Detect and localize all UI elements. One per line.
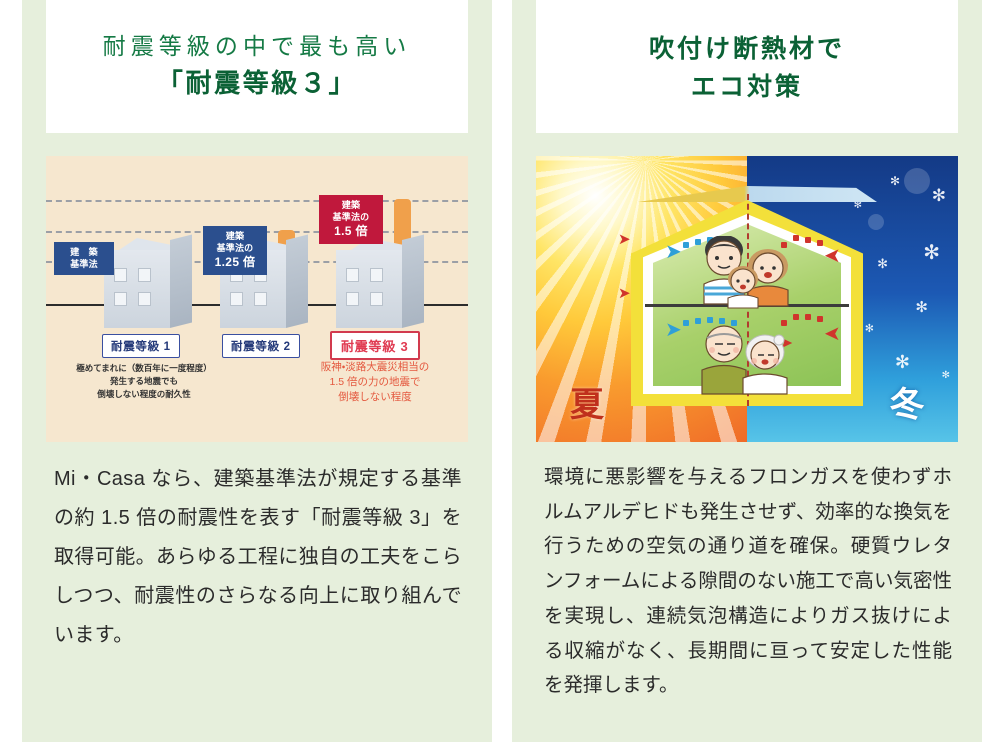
building-side [170, 235, 192, 328]
bokeh-circle [868, 214, 884, 230]
insulation-body-text: 環境に悪影響を与えるフロンガスを使わずホルムアルデヒドも発生させず、効率的な換気… [544, 460, 952, 703]
grade-badge-3: 耐震等級 3 [330, 331, 420, 360]
grade-1-description: 極めてまれに（数百年に一度程度） 発生する地震でも 倒壊しない程度の耐久性 [54, 362, 234, 400]
warm-airflow-dots [767, 314, 827, 320]
seismic-heading-main: 「耐震等級３」 [157, 66, 357, 101]
snowflake-icon: ✻ [923, 240, 940, 265]
panel-seismic: 耐震等級の中で最も高い 「耐震等級３」 [22, 0, 492, 742]
snowflake-icon: ✻ [895, 352, 910, 373]
bokeh-circle [904, 168, 930, 194]
grade-badge-1: 耐震等級 1 [102, 334, 180, 358]
insulation-heading-card: 吹付け断熱材で エコ対策 [536, 0, 958, 133]
house-cutaway: ➤ ➤ [631, 186, 863, 408]
season-label-winter: 冬 [890, 377, 924, 426]
warm-airflow-dots [767, 236, 827, 242]
grandmother-figure [739, 332, 791, 401]
seismic-heading-sub: 耐震等級の中で最も高い [103, 31, 412, 62]
snowflake-icon: ✻ [877, 256, 888, 272]
flag-standard-law: 建 築 基準法 [54, 242, 114, 275]
panel-insulation: 吹付け断熱材で エコ対策 ✻ ✻ ✻ ✻ ✻ ✻ ✻ ✻ ✻ [512, 0, 982, 742]
seismic-body-text: Mi・Casa なら、建築基準法が規定する基準の約 1.5 倍の耐震性を表す「耐… [54, 460, 462, 655]
building-grade-3 [336, 238, 424, 328]
flag-1-25x: 建築 基準法の 1.25 倍 [203, 226, 267, 275]
building-side [402, 235, 424, 328]
insulation-figure: ✻ ✻ ✻ ✻ ✻ ✻ ✻ ✻ ✻ [536, 156, 958, 442]
page-root: 耐震等級の中で最も高い 「耐震等級３」 [0, 0, 1000, 750]
seismic-figure: 建 築 基準法 耐震等級 1 極めてまれに（数百年に一度程度） 発生する地震でも… [46, 156, 468, 442]
snowflake-icon: ✻ [865, 322, 874, 335]
flag-1-5x: 建築 基準法の 1.5 倍 [319, 195, 383, 244]
blocked-heat-arrow-icon: ➤ [618, 230, 631, 248]
summer-winter-illustration: ✻ ✻ ✻ ✻ ✻ ✻ ✻ ✻ ✻ [536, 156, 958, 442]
warm-airflow-arrow-icon: ➤ [824, 324, 841, 344]
seismic-chart: 建 築 基準法 耐震等級 1 極めてまれに（数百年に一度程度） 発生する地震でも… [46, 156, 468, 442]
cool-airflow-arrow-icon: ➤ [665, 242, 682, 262]
building-front [336, 250, 402, 328]
cool-airflow-arrow-icon: ➤ [665, 320, 682, 340]
grade-3-description: 阪神・淡路大震災相当の 1.5 倍の力の地震で 倒壊しない程度 [286, 360, 464, 406]
warm-airflow-arrow-icon: ➤ [824, 246, 841, 266]
seismic-heading-card: 耐震等級の中で最も高い 「耐震等級３」 [46, 0, 468, 133]
blocked-heat-arrow-icon: ➤ [618, 284, 631, 302]
snowflake-icon: ✻ [932, 186, 946, 206]
snowflake-icon: ✻ [915, 298, 928, 316]
insulation-heading-line2: エコ対策 [691, 71, 803, 105]
building-side [286, 235, 308, 328]
season-label-summer: 夏 [570, 377, 604, 426]
grade-badge-2: 耐震等級 2 [222, 334, 300, 358]
snowflake-icon: ✻ [942, 370, 950, 381]
building-grade-1 [104, 238, 192, 328]
child-figure [723, 264, 763, 315]
snowflake-icon: ✻ [890, 174, 900, 188]
insulation-heading-line1: 吹付け断熱材で [649, 33, 845, 67]
